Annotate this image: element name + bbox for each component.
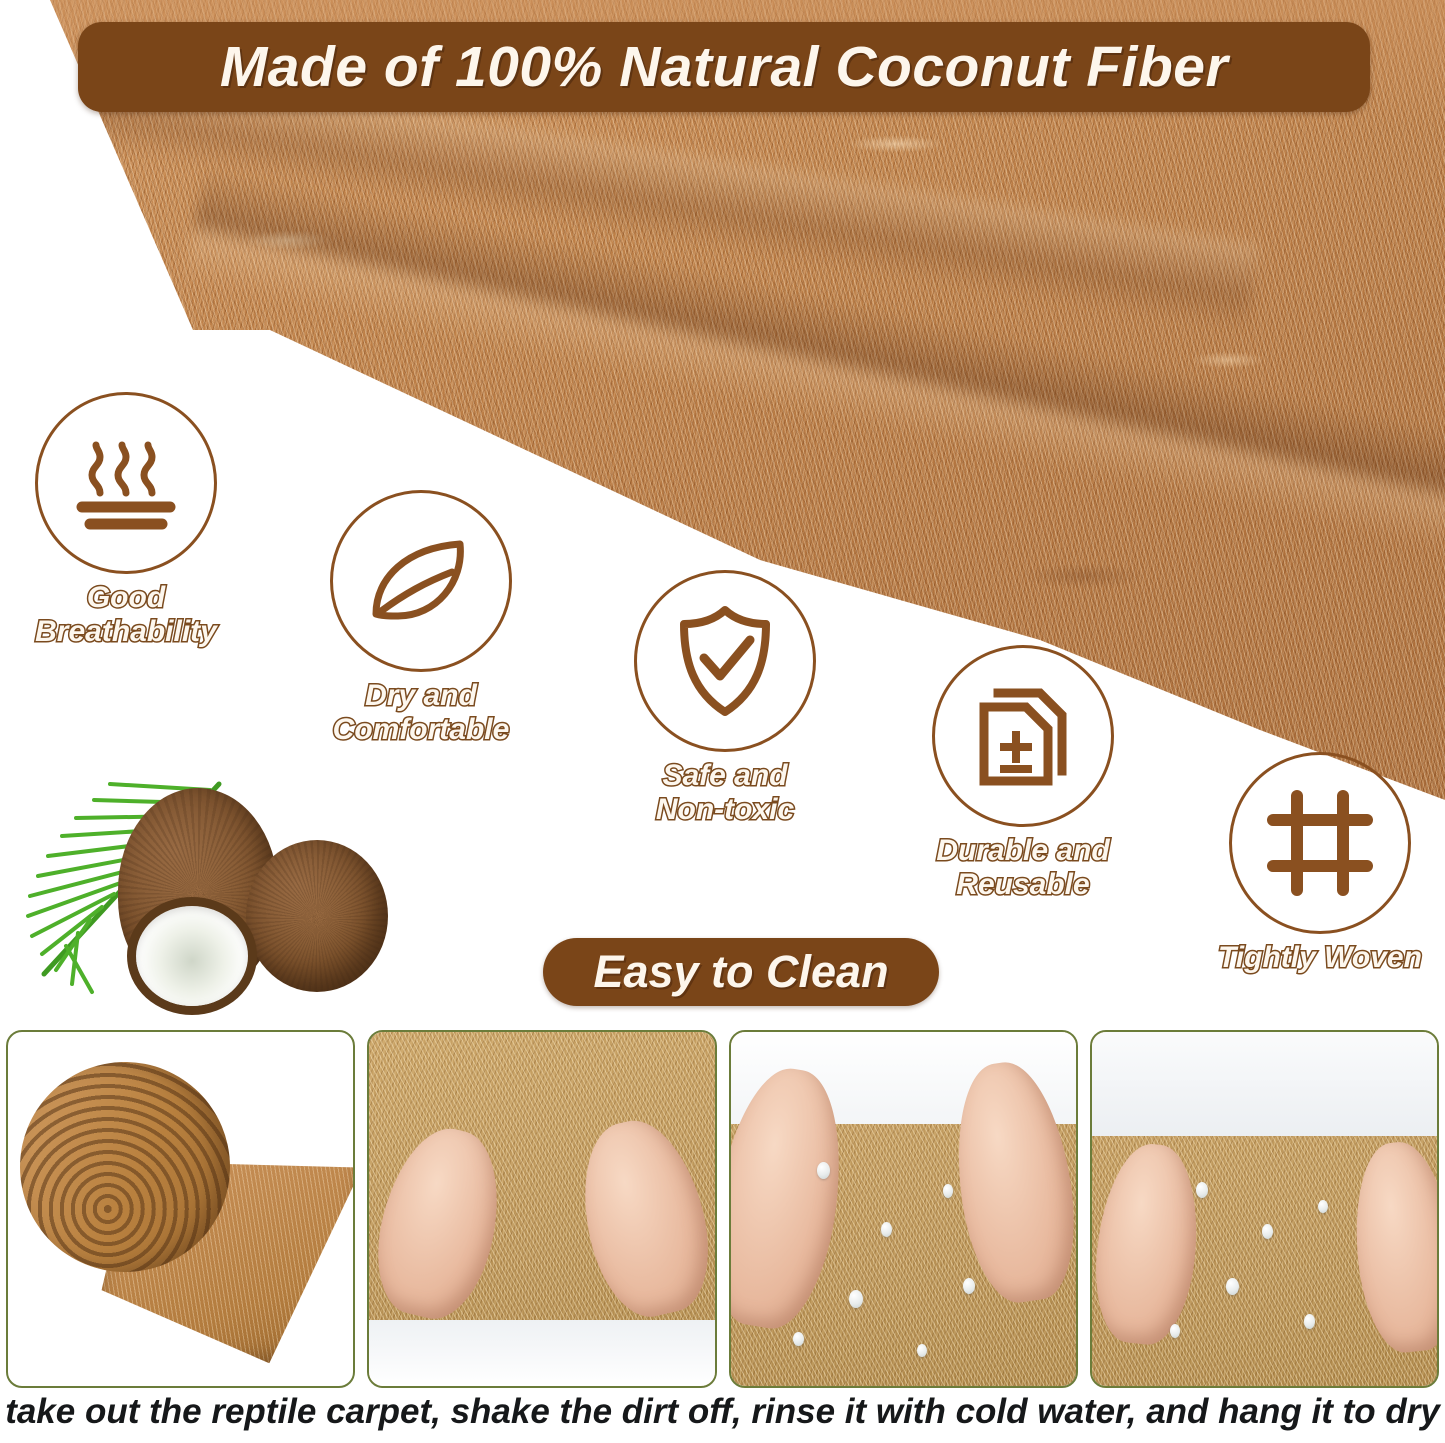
hands-pressing-mat-photo <box>367 1030 716 1388</box>
feature-label: Tightly Woven <box>1218 941 1422 975</box>
feature-label: Durable and Reusable <box>936 834 1109 901</box>
feature-label: Good Breathability <box>35 581 217 648</box>
water-droplet <box>1170 1324 1180 1338</box>
coconut-with-palm-frond <box>8 770 428 1025</box>
white-background <box>1092 1032 1437 1136</box>
easy-to-clean-badge: Easy to Clean <box>543 938 939 1006</box>
hands-holding-wet-mat-photo <box>729 1030 1078 1388</box>
water-droplet <box>1262 1224 1273 1239</box>
care-instructions-caption: take out the reptile carpet, shake the d… <box>0 1392 1445 1432</box>
easy-to-clean-label: Easy to Clean <box>593 946 888 998</box>
feature-good-breathability: Good Breathability <box>35 392 217 648</box>
water-droplet <box>1304 1314 1315 1329</box>
stacked-documents-icon <box>932 645 1114 827</box>
steam-breathability-icon <box>35 392 217 574</box>
coconut-whole <box>246 840 388 992</box>
photo-strip <box>6 1030 1439 1388</box>
woven-grid-icon <box>1229 752 1411 934</box>
feature-tightly-woven: Tightly Woven <box>1218 752 1422 975</box>
water-droplet <box>793 1332 804 1346</box>
water-droplet <box>963 1278 975 1294</box>
water-droplet <box>1226 1278 1239 1295</box>
rolled-carpet-photo <box>6 1030 355 1388</box>
feature-dry-and-comfortable: Dry and Comfortable <box>330 490 512 746</box>
water-droplet <box>849 1290 863 1308</box>
feature-label: Safe and Non-toxic <box>656 759 794 826</box>
product-infographic: Made of 100% Natural Coconut Fiber Good … <box>0 0 1445 1443</box>
shield-check-icon <box>634 570 816 752</box>
header-banner: Made of 100% Natural Coconut Fiber <box>78 22 1370 112</box>
coconut-flesh <box>136 906 248 1006</box>
feature-safe-and-non-toxic: Safe and Non-toxic <box>634 570 816 826</box>
wet-mat-closeup-photo <box>1090 1030 1439 1388</box>
water-droplet <box>1318 1200 1328 1213</box>
leaf-icon <box>330 490 512 672</box>
water-droplet <box>943 1184 953 1198</box>
feature-label: Dry and Comfortable <box>333 679 510 746</box>
feature-durable-and-reusable: Durable and Reusable <box>932 645 1114 901</box>
water-droplet <box>881 1222 892 1237</box>
water-droplet <box>917 1344 927 1357</box>
header-banner-text: Made of 100% Natural Coconut Fiber <box>220 34 1228 100</box>
water-droplet <box>817 1162 830 1179</box>
white-surface <box>369 1320 714 1386</box>
water-droplet <box>1196 1182 1208 1198</box>
